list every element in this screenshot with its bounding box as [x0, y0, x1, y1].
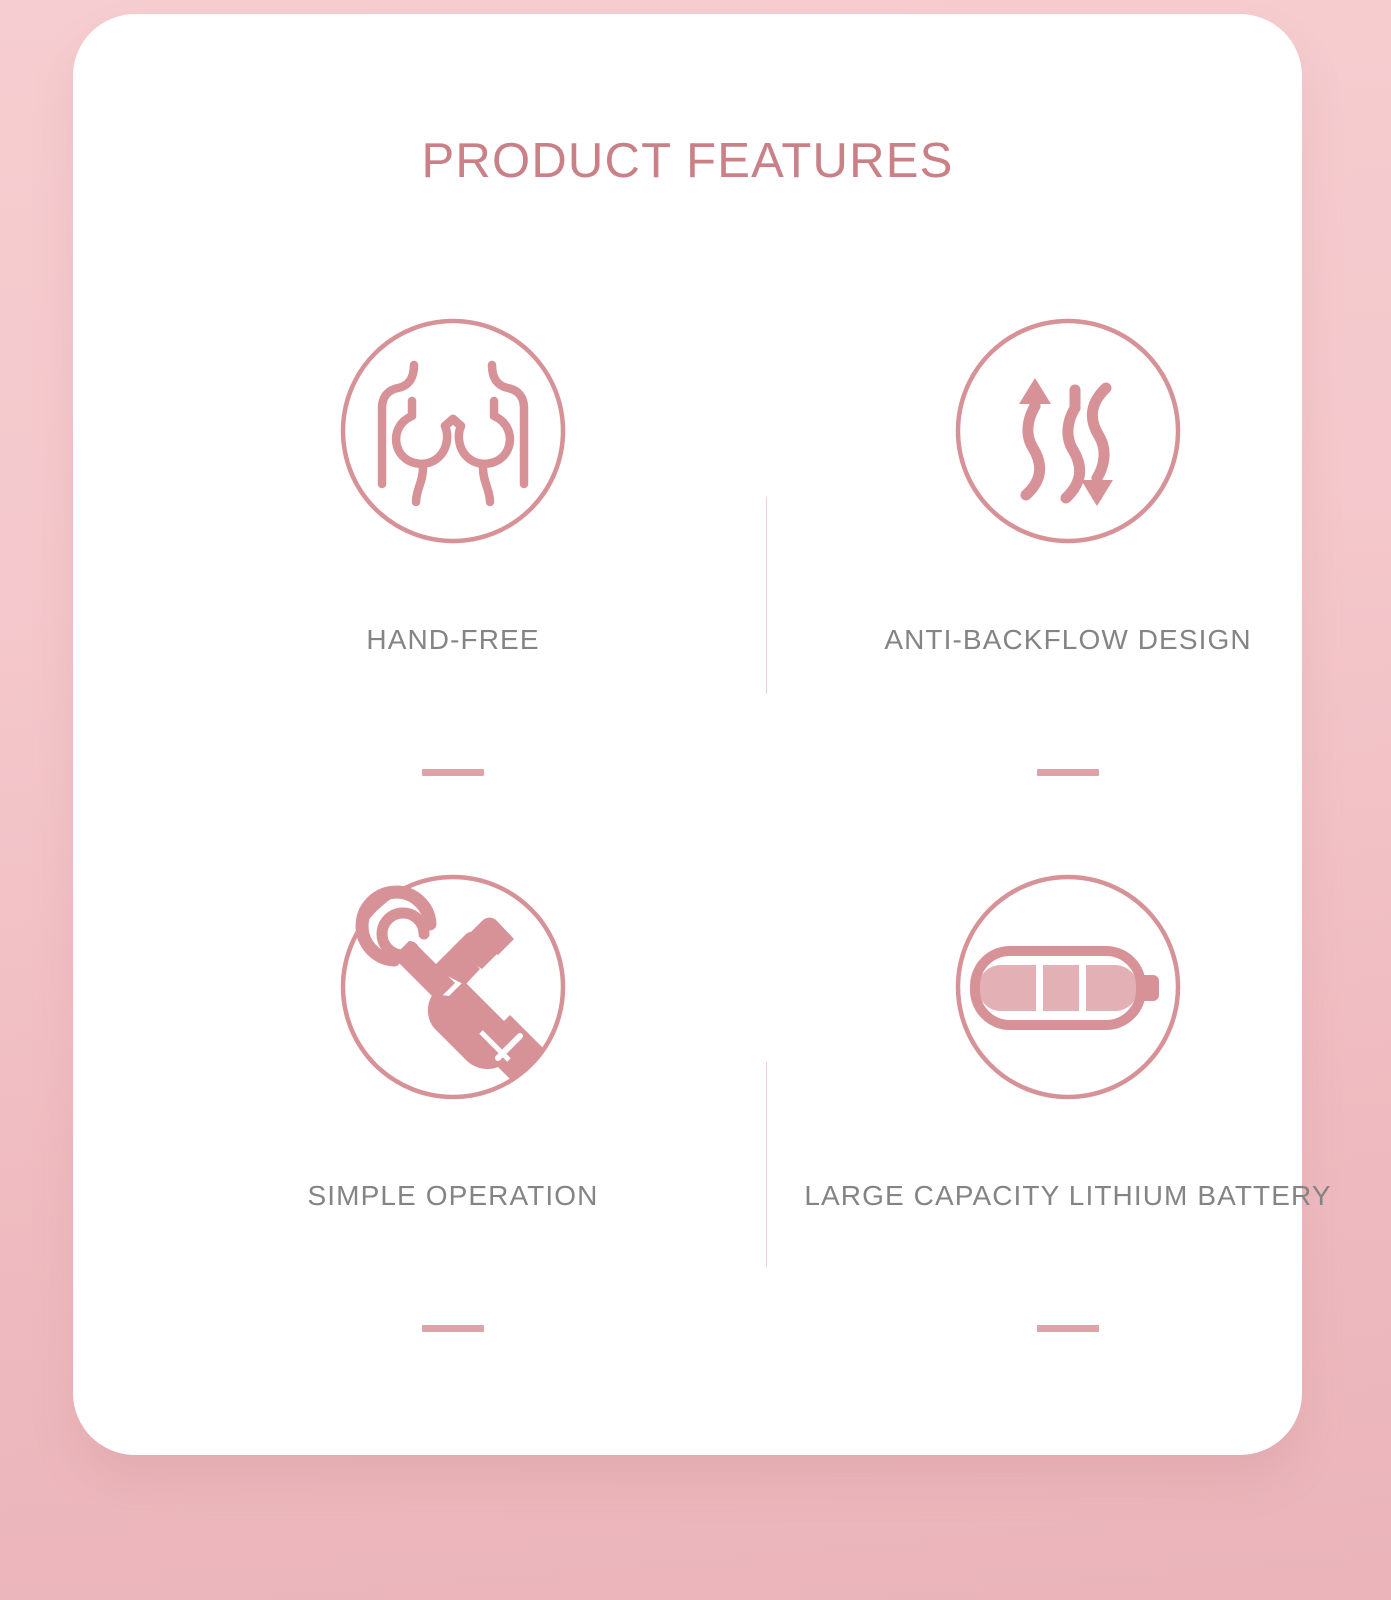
feature-item-anti-backflow-design[interactable]: ANTI-BACKFLOW DESIGN	[761, 266, 1375, 786]
airflow-waves-icon	[953, 316, 1183, 546]
feature-item-large-capacity-lithium-battery[interactable]: LARGE CAPACITY LITHIUM BATTERY	[761, 822, 1375, 1342]
page-title: PRODUCT FEATURES	[73, 133, 1302, 189]
torso-bra-icon	[338, 316, 568, 546]
hand-tap-icon	[338, 872, 568, 1102]
feature-label: SIMPLE OPERATION	[146, 1180, 760, 1212]
feature-card: PRODUCT FEATURES	[73, 14, 1302, 1455]
feature-item-simple-operation[interactable]: SIMPLE OPERATION	[146, 822, 760, 1342]
feature-dash	[1037, 769, 1099, 776]
feature-label: ANTI-BACKFLOW DESIGN	[761, 624, 1375, 656]
feature-dash	[422, 769, 484, 776]
column-divider-row-2	[766, 1062, 767, 1267]
feature-dash	[1037, 1325, 1099, 1332]
product-features-page: PRODUCT FEATURES	[0, 0, 1391, 1600]
feature-label: HAND-FREE	[146, 624, 760, 656]
column-divider-row-1	[766, 497, 767, 694]
feature-label: LARGE CAPACITY LITHIUM BATTERY	[761, 1180, 1375, 1212]
feature-dash	[422, 1325, 484, 1332]
battery-full-icon	[953, 872, 1183, 1102]
feature-item-hand-free[interactable]: HAND-FREE	[146, 266, 760, 786]
